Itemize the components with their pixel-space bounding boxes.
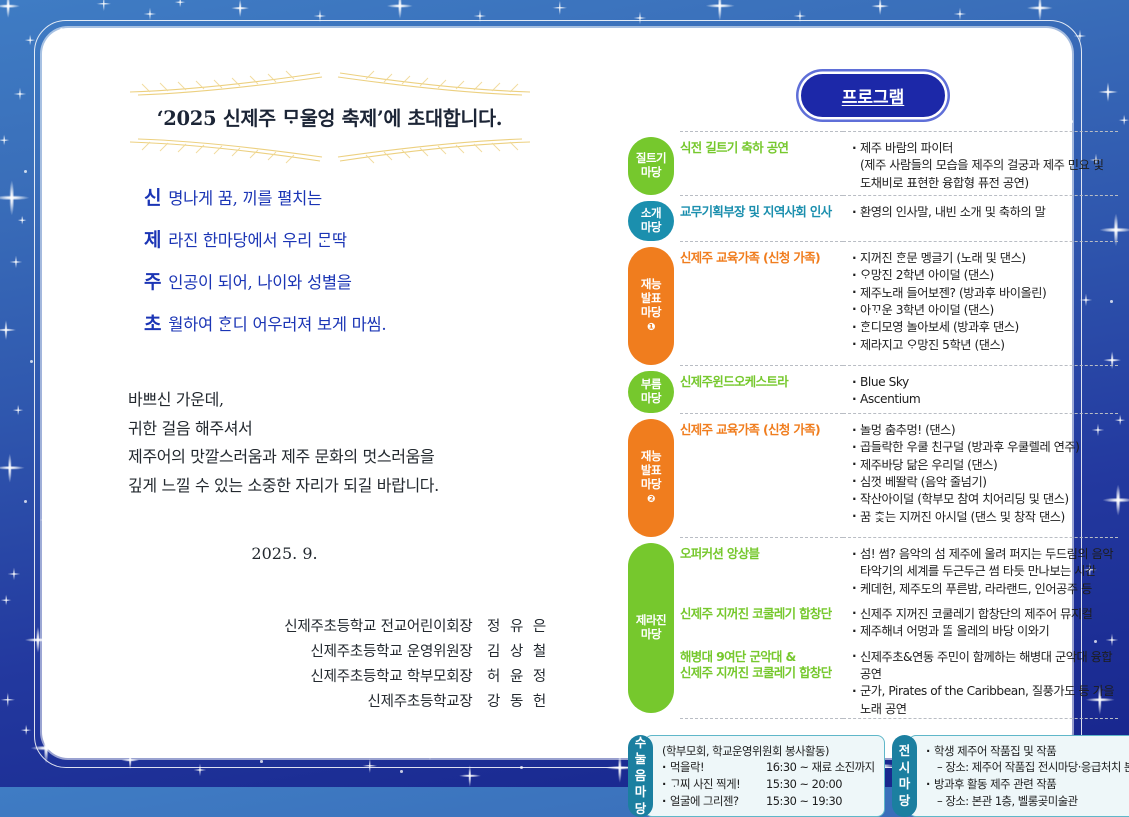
program-pill-column: 질트기마당 xyxy=(628,131,680,195)
program-detail-item: 제주 바람의 파이터 xyxy=(852,140,1118,157)
program-item-title: 식전 길트기 축하 공연 xyxy=(680,140,843,157)
program-detail-item: 놀멍 춤추멍! (댄스) xyxy=(852,422,1118,439)
program-title-cell: 신제주 교육가족 (신청 가족) xyxy=(680,413,843,439)
info-box-body: (학부모회, 학교운영위원회 봉사활동) 먹을락!16:30 ~ 재료 소진까지… xyxy=(644,735,885,817)
pill-line: 마당 xyxy=(641,306,661,320)
invitation-date: 2025. 9. xyxy=(102,544,557,563)
signature-name: 허 윤 정 xyxy=(487,665,549,690)
schedule-label: ᄀᆞ찌 사진 찍게! xyxy=(670,776,766,793)
program-row: 질트기마당 식전 길트기 축하 공연 제주 바람의 파이터·(제주 사람들의 모… xyxy=(628,131,1118,195)
program-detail-item: 아ᄁᆞ운 3학년 아이덜 (댄스) xyxy=(852,302,1118,319)
program-subrow: 오퍼커션 앙상블 섬! 썸? 음악의 섬 제주에 울려 퍼지는 두드림의 음악·… xyxy=(680,537,1118,598)
pill-line: 마당 xyxy=(641,221,661,235)
program-row: 소개마당 교무기획부장 및 지역사회 인사 환영의 인사말, 내빈 소개 및 축… xyxy=(628,195,1118,241)
program-stage-badge: 제라진마당 xyxy=(628,543,674,713)
schedule-label: 먹을락! xyxy=(670,759,766,776)
invitation-body-text: 바쁘신 가운데,귀한 걸음 해주셔서제주어의 맛깔스러움과 제주 문화의 멋스러… xyxy=(128,386,557,500)
wheat-ornament-top-icon xyxy=(102,68,557,98)
pill-number: ❷ xyxy=(647,494,655,506)
program-title-cell: 교무기획부장 및 지역사회 인사 xyxy=(680,195,843,221)
program-pill-column: 소개마당 xyxy=(628,195,680,241)
program-title-cell: 해병대 9여단 군악대 &신제주 지꺼진 코쿨레기 합창단 xyxy=(680,641,843,682)
acrostic-rest-text: 월하여 ᄒᆞᆫ디 어우러져 보게 마씸. xyxy=(168,311,386,335)
program-detail-list: 신제주초&연동 주민이 함께하는 해병대 군악대 융합 공연군가, Pirate… xyxy=(852,649,1118,718)
acrostic-rest-text: 라진 한마당에서 우리 ᄆᆞᆫ딱 xyxy=(168,227,347,251)
schedule-label: 얼굴에 그리젠? xyxy=(670,793,766,810)
program-row-jerajin: 제라진마당 오퍼커션 앙상블 섬! 썸? 음악의 섬 제주에 울려 퍼지는 두드… xyxy=(628,537,1118,718)
program-bottom-boxes: 수눌음마당 (학부모회, 학교운영위원회 봉사활동) 먹을락!16:30 ~ 재… xyxy=(628,735,1118,817)
program-pill-column: 부름마당 xyxy=(628,365,680,413)
program-detail-item: 신제주 지꺼진 코쿨레기 합창단의 제주어 뮤지컬 xyxy=(852,606,1118,623)
signature-name: 김 상 철 xyxy=(487,640,549,665)
program-item-title: 교무기획부장 및 지역사회 인사 xyxy=(680,204,843,221)
program-stage-badge: 질트기마당 xyxy=(628,137,674,195)
program-title-cell: 신제주윈드오케스트라 xyxy=(680,365,843,391)
acrostic-head-char: 제 xyxy=(144,225,161,252)
schedule-line: (학부모회, 학교운영위원회 봉사활동) xyxy=(662,743,875,760)
program-detail-list: Blue SkyAscentium xyxy=(852,374,1118,409)
program-pill-column: 재능발표마당❶ xyxy=(628,241,680,365)
program-detail-cell: 지꺼진 ᄒᆞᆫ문 멩글기 (노래 및 댄스)ᄋᆞ망진 2학년 아이덜 (댄스)제… xyxy=(843,241,1118,354)
signature-row: 신제주초등학교 전교어린이회장 정 유 은 xyxy=(102,615,549,640)
program-row: 재능발표마당❶ 신제주 교육가족 (신청 가족) 지꺼진 ᄒᆞᆫ문 멩글기 (노… xyxy=(628,241,1118,365)
program-detail-list: 지꺼진 ᄒᆞᆫ문 멩글기 (노래 및 댄스)ᄋᆞ망진 2학년 아이덜 (댄스)제… xyxy=(852,250,1118,354)
program-detail-item: 지꺼진 ᄒᆞᆫ문 멩글기 (노래 및 댄스) xyxy=(852,250,1118,267)
schedule-line: 학생 제주어 작품집 및 작품 xyxy=(926,743,1129,760)
schedule-line: ᄀᆞ찌 사진 찍게!15:30 ~ 20:00 xyxy=(662,776,875,793)
pill-line: 마당 xyxy=(641,166,661,180)
program-detail-list: 놀멍 춤추멍! (댄스)곱들락한 우쿨 친구덜 (방과후 우쿨렐레 연주)제주바… xyxy=(852,422,1118,526)
acrostic-head-char: 주 xyxy=(144,267,161,294)
pill-line: 마당 xyxy=(641,628,661,642)
program-item-title: 신제주 교육가족 (신청 가족) xyxy=(680,250,843,267)
body-line: 깊게 느낄 수 있는 소중한 자리가 되길 바랍니다. xyxy=(128,472,557,500)
program-detail-item: 제주노래 들어보젠? (방과후 바이올린) xyxy=(852,285,1118,302)
acrostic-line: 신 명나게 꿈, 끼를 펼치는 xyxy=(144,183,557,210)
program-detail-list: 섬! 썸? 음악의 섬 제주에 울려 퍼지는 두드림의 음악·타악기의 세계를 … xyxy=(852,546,1118,598)
schedule-time: 16:30 ~ 재료 소진까지 xyxy=(766,759,875,776)
schedule-time: 15:30 ~ 20:00 xyxy=(766,776,842,793)
program-detail-item: 군가, Pirates of the Caribbean, 질풍가도 등 가을 … xyxy=(852,683,1118,718)
program-detail-cell: 섬! 썸? 음악의 섬 제주에 울려 퍼지는 두드림의 음악·타악기의 세계를 … xyxy=(843,537,1118,598)
program-item-title: 신제주 교육가족 (신청 가족) xyxy=(680,422,843,439)
program-detail-item: ᄒᆞᆫ디모영 놀아보세 (방과후 댄스) xyxy=(852,319,1118,336)
program-detail-cell: 신제주 지꺼진 코쿨레기 합창단의 제주어 뮤지컬제주해녀 어멍과 ᄄᆞᆯ 올레… xyxy=(843,598,1118,641)
program-stage-badge: 소개마당 xyxy=(628,201,674,241)
program-subrow: 해병대 9여단 군악대 &신제주 지꺼진 코쿨레기 합창단 신제주초&연동 주민… xyxy=(680,641,1118,718)
page-title: ‘2025 신제주 ᄆᆞ울엉 축제’에 초대합니다. xyxy=(102,106,557,131)
signature-row: 신제주초등학교 학부모회장 허 윤 정 xyxy=(102,665,549,690)
acrostic-head-char: 초 xyxy=(144,309,161,336)
acrostic-rest-text: 인공이 되어, 나이와 성별을 xyxy=(168,269,351,293)
program-title-cell: 오퍼커션 앙상블 xyxy=(680,537,843,563)
program-row: 부름마당 신제주윈드오케스트라 Blue SkyAscentium xyxy=(628,365,1118,413)
program-detail-list: 신제주 지꺼진 코쿨레기 합창단의 제주어 뮤지컬제주해녀 어멍과 ᄄᆞᆯ 올레… xyxy=(852,606,1118,641)
acrostic-line: 초 월하여 ᄒᆞᆫ디 어우러져 보게 마씸. xyxy=(144,309,557,336)
wheat-ornament-bottom-icon xyxy=(102,136,557,166)
program-column: 프로그램 질트기마당 식전 길트기 축하 공연 제주 바람의 파이터·(제주 사… xyxy=(628,74,1118,817)
schedule-line: 얼굴에 그리젠?15:30 ~ 19:30 xyxy=(662,793,875,810)
program-detail-item: 케데헌, 제주도의 푸른밤, 라라랜드, 인어공주 등 xyxy=(852,581,1118,598)
program-table: 질트기마당 식전 길트기 축하 공연 제주 바람의 파이터·(제주 사람들의 모… xyxy=(628,131,1118,719)
program-item-title: 오퍼커션 앙상블 xyxy=(680,546,843,563)
body-line: 바쁘신 가운데, xyxy=(128,386,557,414)
pill-line: 발표 xyxy=(641,292,661,306)
program-item-title: 해병대 9여단 군악대 &신제주 지꺼진 코쿨레기 합창단 xyxy=(680,649,843,682)
body-line: 귀한 걸음 해주셔서 xyxy=(128,415,557,443)
pill-line: 재능 xyxy=(641,450,661,464)
signature-name: 정 유 은 xyxy=(487,615,549,640)
pill-line: 질트기 xyxy=(636,152,666,166)
pill-line: 소개 xyxy=(641,207,661,221)
pill-number: ❶ xyxy=(647,322,655,334)
info-box: 수눌음마당 (학부모회, 학교운영위원회 봉사활동) 먹을락!16:30 ~ 재… xyxy=(628,735,880,817)
signature-block: 신제주초등학교 전교어린이회장 정 유 은 신제주초등학교 운영위원장 김 상 … xyxy=(102,615,557,715)
program-detail-item: Ascentium xyxy=(852,391,1118,408)
pill-line: 부름 xyxy=(641,378,661,392)
pill-line: 재능 xyxy=(641,278,661,292)
info-box-tab: 수눌음마당 xyxy=(628,735,653,817)
schedule-line: – 장소: 제주어 작품집 전시마당·응급처치 본부 xyxy=(926,759,1129,776)
program-item-title: 신제주윈드오케스트라 xyxy=(680,374,843,391)
program-detail-cell: 환영의 인사말, 내빈 소개 및 축하의 말 xyxy=(843,195,1118,221)
pill-line: 발표 xyxy=(641,464,661,478)
program-detail-item: ᄋᆞ망진 2학년 아이덜 (댄스) xyxy=(852,267,1118,284)
program-detail-cont: ·(제주 사람들의 모습을 제주의 걸궁과 제주 민요 및 xyxy=(852,157,1118,174)
signature-name: 강 동 헌 xyxy=(487,690,549,715)
invitation-left-column: ‘2025 신제주 ᄆᆞ울엉 축제’에 초대합니다. xyxy=(102,58,557,726)
program-detail-cont-text: (제주 사람들의 모습을 제주의 걸궁과 제주 민요 및 xyxy=(860,158,1104,172)
program-detail-cont: ·도채비로 표현한 융합형 퓨전 공연) xyxy=(852,175,1118,192)
schedule-line: 먹을락!16:30 ~ 재료 소진까지 xyxy=(662,759,875,776)
signature-row: 신제주초등학교 운영위원장 김 상 철 xyxy=(102,640,549,665)
signature-row: 신제주초등학교장 강 동 헌 xyxy=(102,690,549,715)
program-detail-item: 제주바당 닮은 우리덜 (댄스) xyxy=(852,457,1118,474)
acrostic-line: 제 라진 한마당에서 우리 ᄆᆞᆫ딱 xyxy=(144,225,557,252)
info-box-tab: 전시마당 xyxy=(892,735,917,817)
program-item-title: 신제주 지꺼진 코쿨레기 합창단 xyxy=(680,606,843,623)
program-detail-item: Blue Sky xyxy=(852,374,1118,391)
program-detail-cell: 놀멍 춤추멍! (댄스)곱들락한 우쿨 친구덜 (방과후 우쿨렐레 연주)제주바… xyxy=(843,413,1118,526)
acrostic-head-char: 신 xyxy=(144,183,161,210)
acrostic-rest-text: 명나게 꿈, 끼를 펼치는 xyxy=(168,185,322,209)
pill-line: 마당 xyxy=(641,478,661,492)
signature-title: 신제주초등학교 학부모회장 xyxy=(310,669,472,685)
program-detail-cell: 제주 바람의 파이터·(제주 사람들의 모습을 제주의 걸궁과 제주 민요 및·… xyxy=(843,131,1118,192)
signature-title: 신제주초등학교 전교어린이회장 xyxy=(284,619,472,635)
program-detail-item: 섬! 썸? 음악의 섬 제주에 울려 퍼지는 두드림의 음악 xyxy=(852,546,1118,563)
program-detail-item: 제라지고 ᄋᆞ망진 5학년 (댄스) xyxy=(852,337,1118,354)
schedule-time: 15:30 ~ 19:30 xyxy=(766,793,842,810)
program-detail-list: 제주 바람의 파이터·(제주 사람들의 모습을 제주의 걸궁과 제주 민요 및·… xyxy=(852,140,1118,192)
program-detail-item: 환영의 인사말, 내빈 소개 및 축하의 말 xyxy=(852,204,1118,221)
program-stage-badge: 재능발표마당❷ xyxy=(628,419,674,537)
program-detail-list: 환영의 인사말, 내빈 소개 및 축하의 말 xyxy=(852,204,1118,221)
program-title-badge: 프로그램 xyxy=(801,74,945,117)
info-box: 전시마당 학생 제주어 작품집 및 작품– 장소: 제주어 작품집 전시마당·응… xyxy=(892,735,1129,817)
pill-line: 마당 xyxy=(641,392,661,406)
schedule-line: – 장소: 본관 1층, 벨롱곶미술관 xyxy=(926,793,1129,810)
program-pill-column: 제라진마당 xyxy=(628,537,680,713)
program-detail-cell: 신제주초&연동 주민이 함께하는 해병대 군악대 융합 공연군가, Pirate… xyxy=(843,641,1118,718)
acrostic-line: 주 인공이 되어, 나이와 성별을 xyxy=(144,267,557,294)
program-detail-item: 심껏 베똴락 (음악 줄넘기) xyxy=(852,474,1118,491)
program-detail-item: 신제주초&연동 주민이 함께하는 해병대 군악대 융합 공연 xyxy=(852,649,1118,684)
headline-block: ‘2025 신제주 ᄆᆞ울엉 축제’에 초대합니다. xyxy=(102,58,557,131)
acrostic-poem: 신 명나게 꿈, 끼를 펼치는 제 라진 한마당에서 우리 ᄆᆞᆫ딱 주 인공이… xyxy=(144,183,557,336)
program-detail-cont-text: 도채비로 표현한 융합형 퓨전 공연) xyxy=(860,176,1029,190)
program-title-label: 프로그램 xyxy=(842,83,905,108)
program-subrow-group: 오퍼커션 앙상블 섬! 썸? 음악의 섬 제주에 울려 퍼지는 두드림의 음악·… xyxy=(680,537,1118,718)
program-stage-badge: 재능발표마당❶ xyxy=(628,247,674,365)
program-table-footer-rule xyxy=(628,718,1118,719)
program-title-cell: 신제주 지꺼진 코쿨레기 합창단 xyxy=(680,598,843,623)
pill-line: 제라진 xyxy=(636,614,666,628)
schedule-line: 방과후 활동 제주 관련 작품 xyxy=(926,776,1129,793)
program-title-cell: 신제주 교육가족 (신청 가족) xyxy=(680,241,843,267)
program-detail-cont-text: 타악기의 세계를 두근두근 썸 타듯 만나보는 시간 xyxy=(860,564,1096,578)
program-detail-cont: ·타악기의 세계를 두근두근 썸 타듯 만나보는 시간 xyxy=(852,563,1118,580)
program-detail-item: 작산아이덜 (학부모 참여 치어리딩 및 댄스) xyxy=(852,491,1118,508)
program-detail-item: 제주해녀 어멍과 ᄄᆞᆯ 올레의 바당 이와기 xyxy=(852,623,1118,640)
signature-title: 신제주초등학교 운영위원장 xyxy=(310,644,472,660)
program-detail-item: 곱들락한 우쿨 친구덜 (방과후 우쿨렐레 연주) xyxy=(852,439,1118,456)
program-stage-badge: 부름마당 xyxy=(628,371,674,413)
invitation-card: ‘2025 신제주 ᄆᆞ울엉 축제’에 초대합니다. xyxy=(42,28,1072,758)
body-line: 제주어의 맛깔스러움과 제주 문화의 멋스러움을 xyxy=(128,443,557,471)
program-detail-item: 꿈 ᄎᆞᆽ는 지꺼진 아시덜 (댄스 및 창작 댄스) xyxy=(852,509,1118,526)
info-box-body: 학생 제주어 작품집 및 작품– 장소: 제주어 작품집 전시마당·응급처치 본… xyxy=(908,735,1129,817)
program-pill-column: 재능발표마당❷ xyxy=(628,413,680,537)
program-title-cell: 식전 길트기 축하 공연 xyxy=(680,131,843,157)
program-detail-cell: Blue SkyAscentium xyxy=(843,365,1118,409)
signature-title: 신제주초등학교장 xyxy=(367,694,472,710)
program-row: 재능발표마당❷ 신제주 교육가족 (신청 가족) 놀멍 춤추멍! (댄스)곱들락… xyxy=(628,413,1118,537)
program-subrow: 신제주 지꺼진 코쿨레기 합창단 신제주 지꺼진 코쿨레기 합창단의 제주어 뮤… xyxy=(680,598,1118,641)
